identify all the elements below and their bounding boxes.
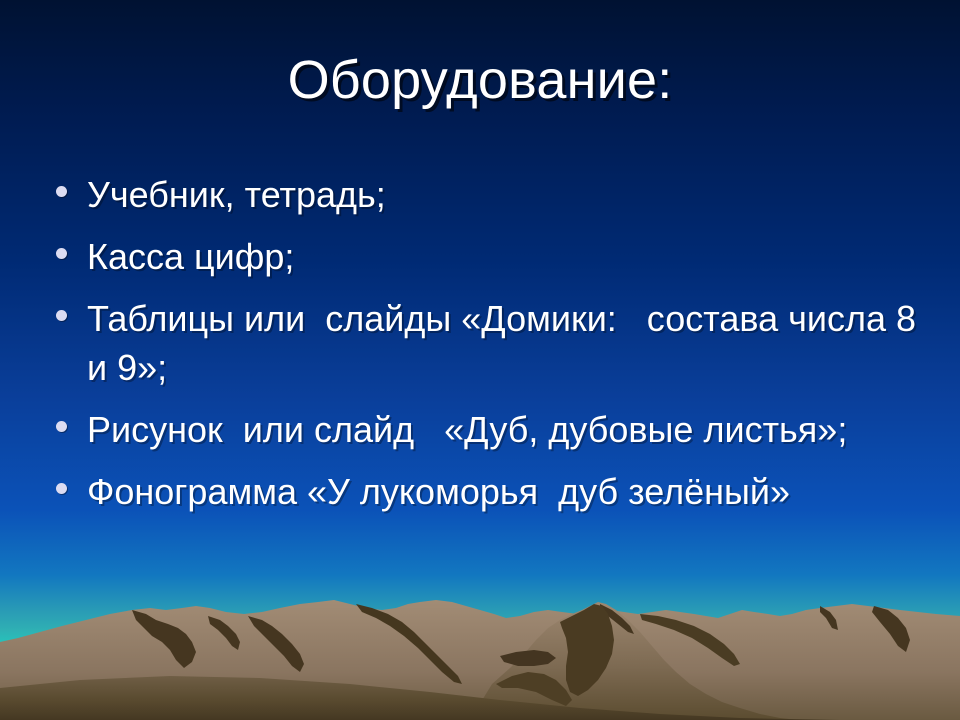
bullet-dot-icon bbox=[56, 310, 67, 321]
list-item-text: Касса цифр; bbox=[87, 232, 944, 281]
list-item-text: Фонограмма «У лукоморья дуб зелёный» bbox=[87, 467, 944, 516]
list-item: Касса цифр; bbox=[44, 232, 944, 281]
list-item-text: Учебник, тетрадь; bbox=[87, 170, 944, 219]
presentation-slide: Оборудование: Учебник, тетрадь; Касса ци… bbox=[0, 0, 960, 720]
slide-body-list: Учебник, тетрадь; Касса цифр; Таблицы ил… bbox=[44, 170, 944, 529]
list-item: Фонограмма «У лукоморья дуб зелёный» bbox=[44, 467, 944, 516]
mountain-range-illustration bbox=[0, 580, 960, 720]
list-item: Таблицы или слайды «Домики: состава числ… bbox=[44, 294, 944, 392]
list-item-text: Рисунок или слайд «Дуб, дубовые листья»; bbox=[87, 405, 944, 454]
slide-title: Оборудование: bbox=[0, 48, 960, 112]
bullet-dot-icon bbox=[56, 186, 67, 197]
bullet-dot-icon bbox=[56, 248, 67, 259]
list-item: Учебник, тетрадь; bbox=[44, 170, 944, 219]
list-item-text: Таблицы или слайды «Домики: состава числ… bbox=[87, 294, 944, 392]
bullet-dot-icon bbox=[56, 421, 67, 432]
list-item: Рисунок или слайд «Дуб, дубовые листья»; bbox=[44, 405, 944, 454]
bullet-dot-icon bbox=[56, 483, 67, 494]
